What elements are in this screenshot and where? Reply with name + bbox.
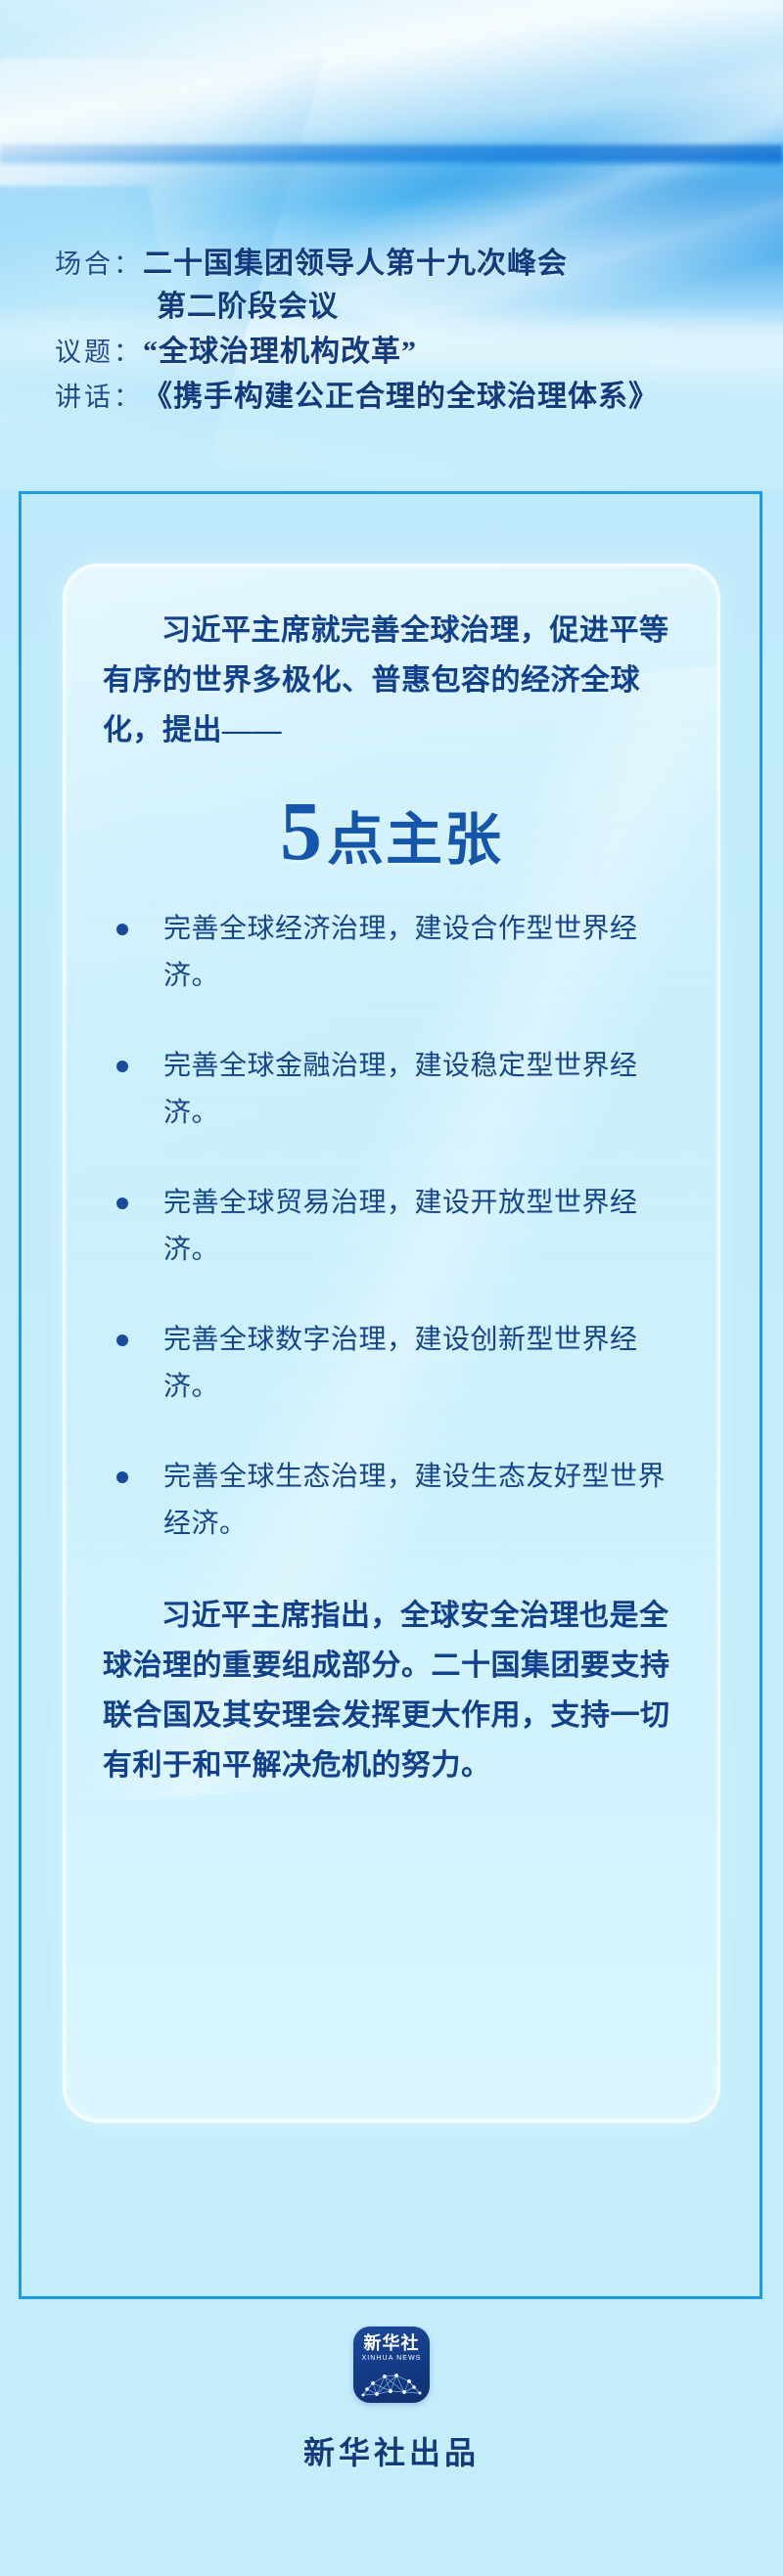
content-glass-card: 习近平主席就完善全球治理，促进平等有序的世界多极化、普惠包容的经济全球化，提出—… [63, 564, 720, 2123]
bullet-dot-icon [116, 924, 128, 935]
headline-number: 5 [280, 789, 321, 873]
header-value-speech: 《携手构建公正合理的全球治理体系》 [143, 372, 659, 415]
header-value-topic: “全球治理机构改革” [143, 327, 417, 370]
bullet-dot-icon [116, 1061, 128, 1072]
logo-chinese-name: 新华社 [353, 2334, 430, 2352]
card-content: 习近平主席就完善全球治理，促进平等有序的世界多极化、普惠包容的经济全球化，提出—… [64, 606, 719, 1790]
list-item: 完善全球贸易治理，建设开放型世界经济。 [116, 1180, 676, 1274]
bullet-dot-icon [116, 1198, 128, 1209]
header-value-occasion: 二十国集团领导人第十九次峰会 [143, 239, 568, 282]
bullet-dot-icon [116, 1471, 128, 1483]
list-item: 完善全球生态治理，建设生态友好型世界经济。 [116, 1454, 676, 1548]
list-item-label: 完善全球经济治理，建设合作型世界经济。 [163, 906, 676, 1000]
header-meta-block: 场合： 二十国集团领导人第十九次峰会 第二阶段会议 议题： “全球治理机构改革”… [55, 239, 779, 417]
header-label-speech: 讲话： [55, 376, 143, 414]
header-label-occasion: 场合： [55, 243, 143, 281]
header-row-speech: 讲话： 《携手构建公正合理的全球治理体系》 [55, 372, 779, 415]
header-value-occasion-line2: 第二阶段会议 [157, 282, 779, 325]
proposal-list: 完善全球经济治理，建设合作型世界经济。 完善全球金融治理，建设稳定型世界经济。 … [103, 906, 680, 1548]
list-item-label: 完善全球贸易治理，建设开放型世界经济。 [163, 1180, 676, 1274]
logo-english-name: XINHUA NEWS [353, 2355, 430, 2362]
list-item-label: 完善全球数字治理，建设创新型世界经济。 [163, 1317, 676, 1411]
list-item-label: 完善全球金融治理，建设稳定型世界经济。 [163, 1043, 676, 1137]
footer-block: 新华社 XINHUA NEWS [0, 2327, 783, 2473]
infographic-poster: 场合： 二十国集团领导人第十九次峰会 第二阶段会议 议题： “全球治理机构改革”… [0, 0, 783, 2576]
list-item: 完善全球金融治理，建设稳定型世界经济。 [116, 1043, 676, 1137]
intro-paragraph: 习近平主席就完善全球治理，促进平等有序的世界多极化、普惠包容的经济全球化，提出—… [103, 606, 680, 755]
list-item-label: 完善全球生态治理，建设生态友好型世界经济。 [163, 1454, 676, 1548]
xinhua-news-logo: 新华社 XINHUA NEWS [353, 2327, 430, 2403]
footer-credit: 新华社出品 [0, 2428, 783, 2473]
headline-five-points: 5 点主张 [103, 789, 680, 873]
closing-paragraph: 习近平主席指出，全球安全治理也是全球治理的重要组成部分。二十国集团要支持联合国及… [103, 1591, 680, 1790]
header-label-topic: 议题： [55, 331, 143, 369]
list-item: 完善全球经济治理，建设合作型世界经济。 [116, 906, 676, 1000]
headline-word: 点主张 [327, 812, 503, 869]
header-row-topic: 议题： “全球治理机构改革” [55, 327, 779, 370]
header-row-occasion: 场合： 二十国集团领导人第十九次峰会 [55, 239, 779, 282]
bullet-dot-icon [116, 1334, 128, 1346]
globe-network-icon [353, 2362, 430, 2401]
list-item: 完善全球数字治理，建设创新型世界经济。 [116, 1317, 676, 1411]
